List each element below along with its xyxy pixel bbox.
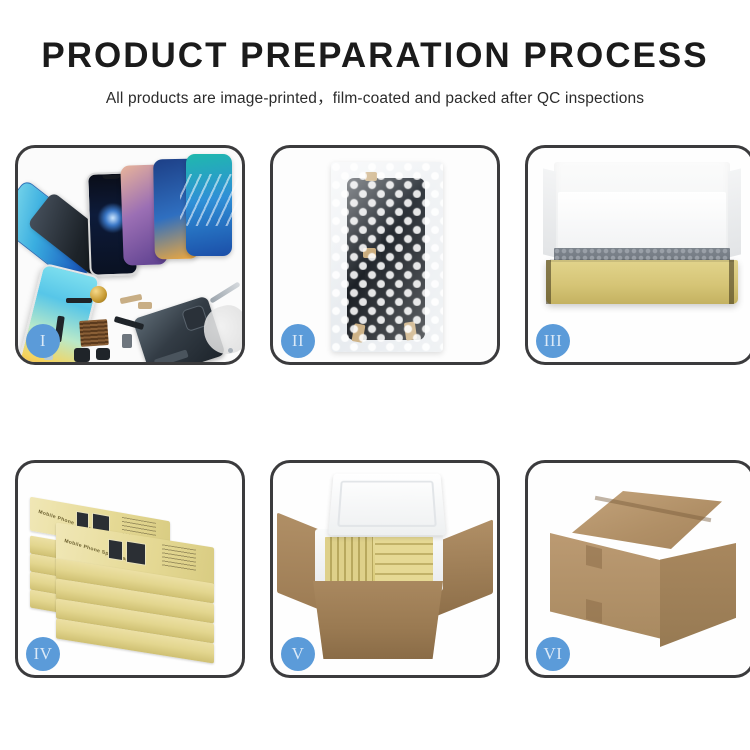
packed-yellow-boxes — [325, 537, 433, 583]
step-badge-3: III — [536, 324, 570, 358]
step-badge-6: VI — [536, 637, 570, 671]
chip-grid-part — [79, 319, 109, 347]
small-part-g — [96, 348, 110, 360]
carton-tape-upper — [586, 545, 602, 569]
process-steps-grid: I II — [15, 145, 735, 678]
sealed-carton — [550, 491, 736, 647]
step-panel-3: III — [525, 145, 750, 365]
carton-body — [313, 581, 443, 659]
step-panel-6: VI — [525, 460, 750, 678]
carton-tape-lower — [586, 599, 602, 623]
small-part-a — [66, 298, 92, 303]
box-edge-left — [546, 260, 551, 304]
step-badge-1: I — [26, 324, 60, 358]
small-part-e — [74, 348, 90, 362]
step-badge-5: V — [281, 637, 315, 671]
product-preparation-infographic: PRODUCT PREPARATION PROCESS All products… — [0, 0, 750, 750]
box-screen-thumb-d — [126, 541, 146, 566]
step-badge-4: IV — [26, 637, 60, 671]
tweezers-icon — [209, 281, 240, 303]
page-subtitle: All products are image-printed，film-coat… — [0, 86, 750, 108]
phone-screen-teal — [186, 154, 232, 256]
box-edge-right — [729, 260, 734, 304]
header: PRODUCT PREPARATION PROCESS All products… — [0, 0, 750, 108]
carton-side-face — [660, 543, 736, 647]
carton-front-face — [550, 533, 662, 639]
box-stack: Mobile Phone Spare Parts Mobile Phone Sp… — [30, 485, 238, 665]
step-panel-2: II — [270, 145, 500, 365]
notch-icon — [102, 175, 120, 180]
kraft-box-tray — [546, 260, 738, 304]
small-part-c — [138, 302, 152, 309]
step-panel-4: Mobile Phone Spare Parts Mobile Phone Sp… — [15, 460, 245, 678]
step-badge-2: II — [281, 324, 315, 358]
page-title: PRODUCT PREPARATION PROCESS — [0, 38, 750, 75]
small-part-d — [122, 334, 132, 348]
step-panel-5: V — [270, 460, 500, 678]
foam-lid-open — [328, 474, 446, 536]
step-panel-1: I — [15, 145, 245, 365]
coil-part-icon — [90, 286, 107, 303]
white-foam-sheet — [558, 192, 726, 254]
box-screen-thumb-c — [108, 539, 123, 561]
bubble-wrap-bag — [331, 162, 443, 352]
screw-part — [228, 348, 233, 353]
box-spec-text-front — [162, 544, 196, 571]
plastic-sheen — [331, 162, 443, 352]
